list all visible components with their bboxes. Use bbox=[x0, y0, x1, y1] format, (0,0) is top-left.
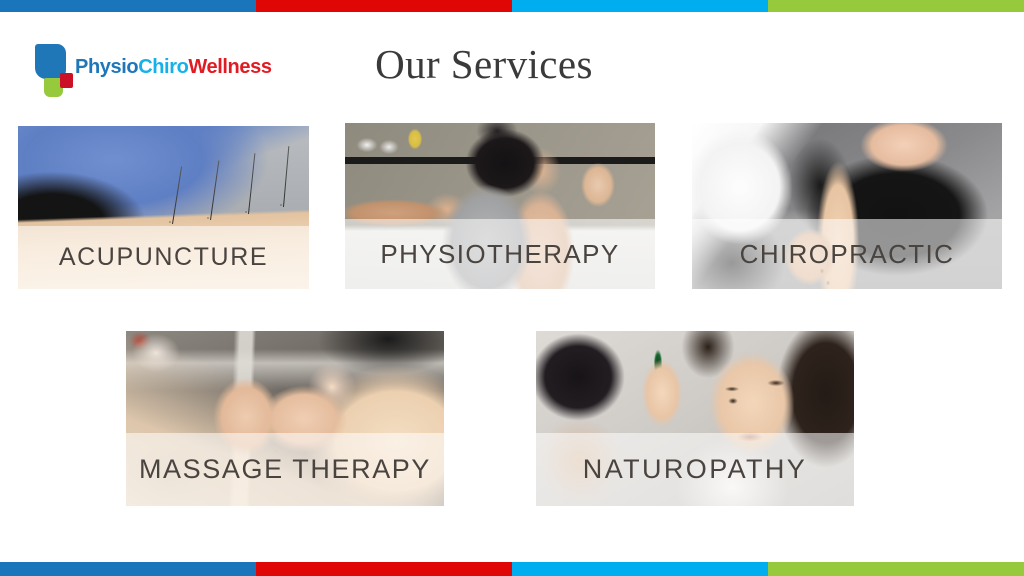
color-bar-segment-green bbox=[768, 0, 1024, 12]
service-label: NATUROPATHY bbox=[583, 456, 807, 483]
color-bar-segment-green bbox=[768, 562, 1024, 576]
service-card-massage-therapy[interactable]: MASSAGE THERAPY bbox=[126, 331, 444, 506]
page-title-text: Our Services bbox=[375, 40, 593, 88]
service-card-physiotherapy[interactable]: PHYSIOTHERAPY bbox=[345, 123, 655, 289]
service-label: ACUPUNCTURE bbox=[59, 245, 268, 270]
service-label: MASSAGE THERAPY bbox=[139, 456, 431, 483]
page-title: Our Services bbox=[0, 40, 1024, 88]
color-bar-segment-cyan bbox=[512, 562, 768, 576]
chiropractic-label-band: CHIROPRACTIC bbox=[692, 219, 1002, 289]
needle-icon bbox=[210, 160, 220, 220]
service-card-chiropractic[interactable]: CHIROPRACTIC bbox=[692, 123, 1002, 289]
service-card-naturopathy[interactable]: NATUROPATHY bbox=[536, 331, 854, 506]
acupuncture-label-band: ACUPUNCTURE bbox=[18, 226, 309, 289]
needle-icon bbox=[283, 146, 290, 207]
naturopathy-label-band: NATUROPATHY bbox=[536, 433, 854, 506]
top-color-bar bbox=[0, 0, 1024, 12]
needle-icon bbox=[172, 167, 182, 225]
slide-header: PhysioChiroWellness Our Services bbox=[0, 12, 1024, 115]
service-label: CHIROPRACTIC bbox=[740, 241, 955, 267]
bottom-color-bar bbox=[0, 562, 1024, 576]
color-bar-segment-red bbox=[256, 562, 512, 576]
service-label: PHYSIOTHERAPY bbox=[380, 241, 619, 267]
color-bar-segment-red bbox=[256, 0, 512, 12]
needle-icon bbox=[248, 153, 256, 214]
color-bar-segment-cyan bbox=[512, 0, 768, 12]
massage-therapy-label-band: MASSAGE THERAPY bbox=[126, 433, 444, 506]
physiotherapy-label-band: PHYSIOTHERAPY bbox=[345, 219, 655, 289]
color-bar-segment-blue bbox=[0, 562, 256, 576]
color-bar-segment-blue bbox=[0, 0, 256, 12]
service-card-acupuncture[interactable]: ACUPUNCTURE bbox=[18, 126, 309, 289]
